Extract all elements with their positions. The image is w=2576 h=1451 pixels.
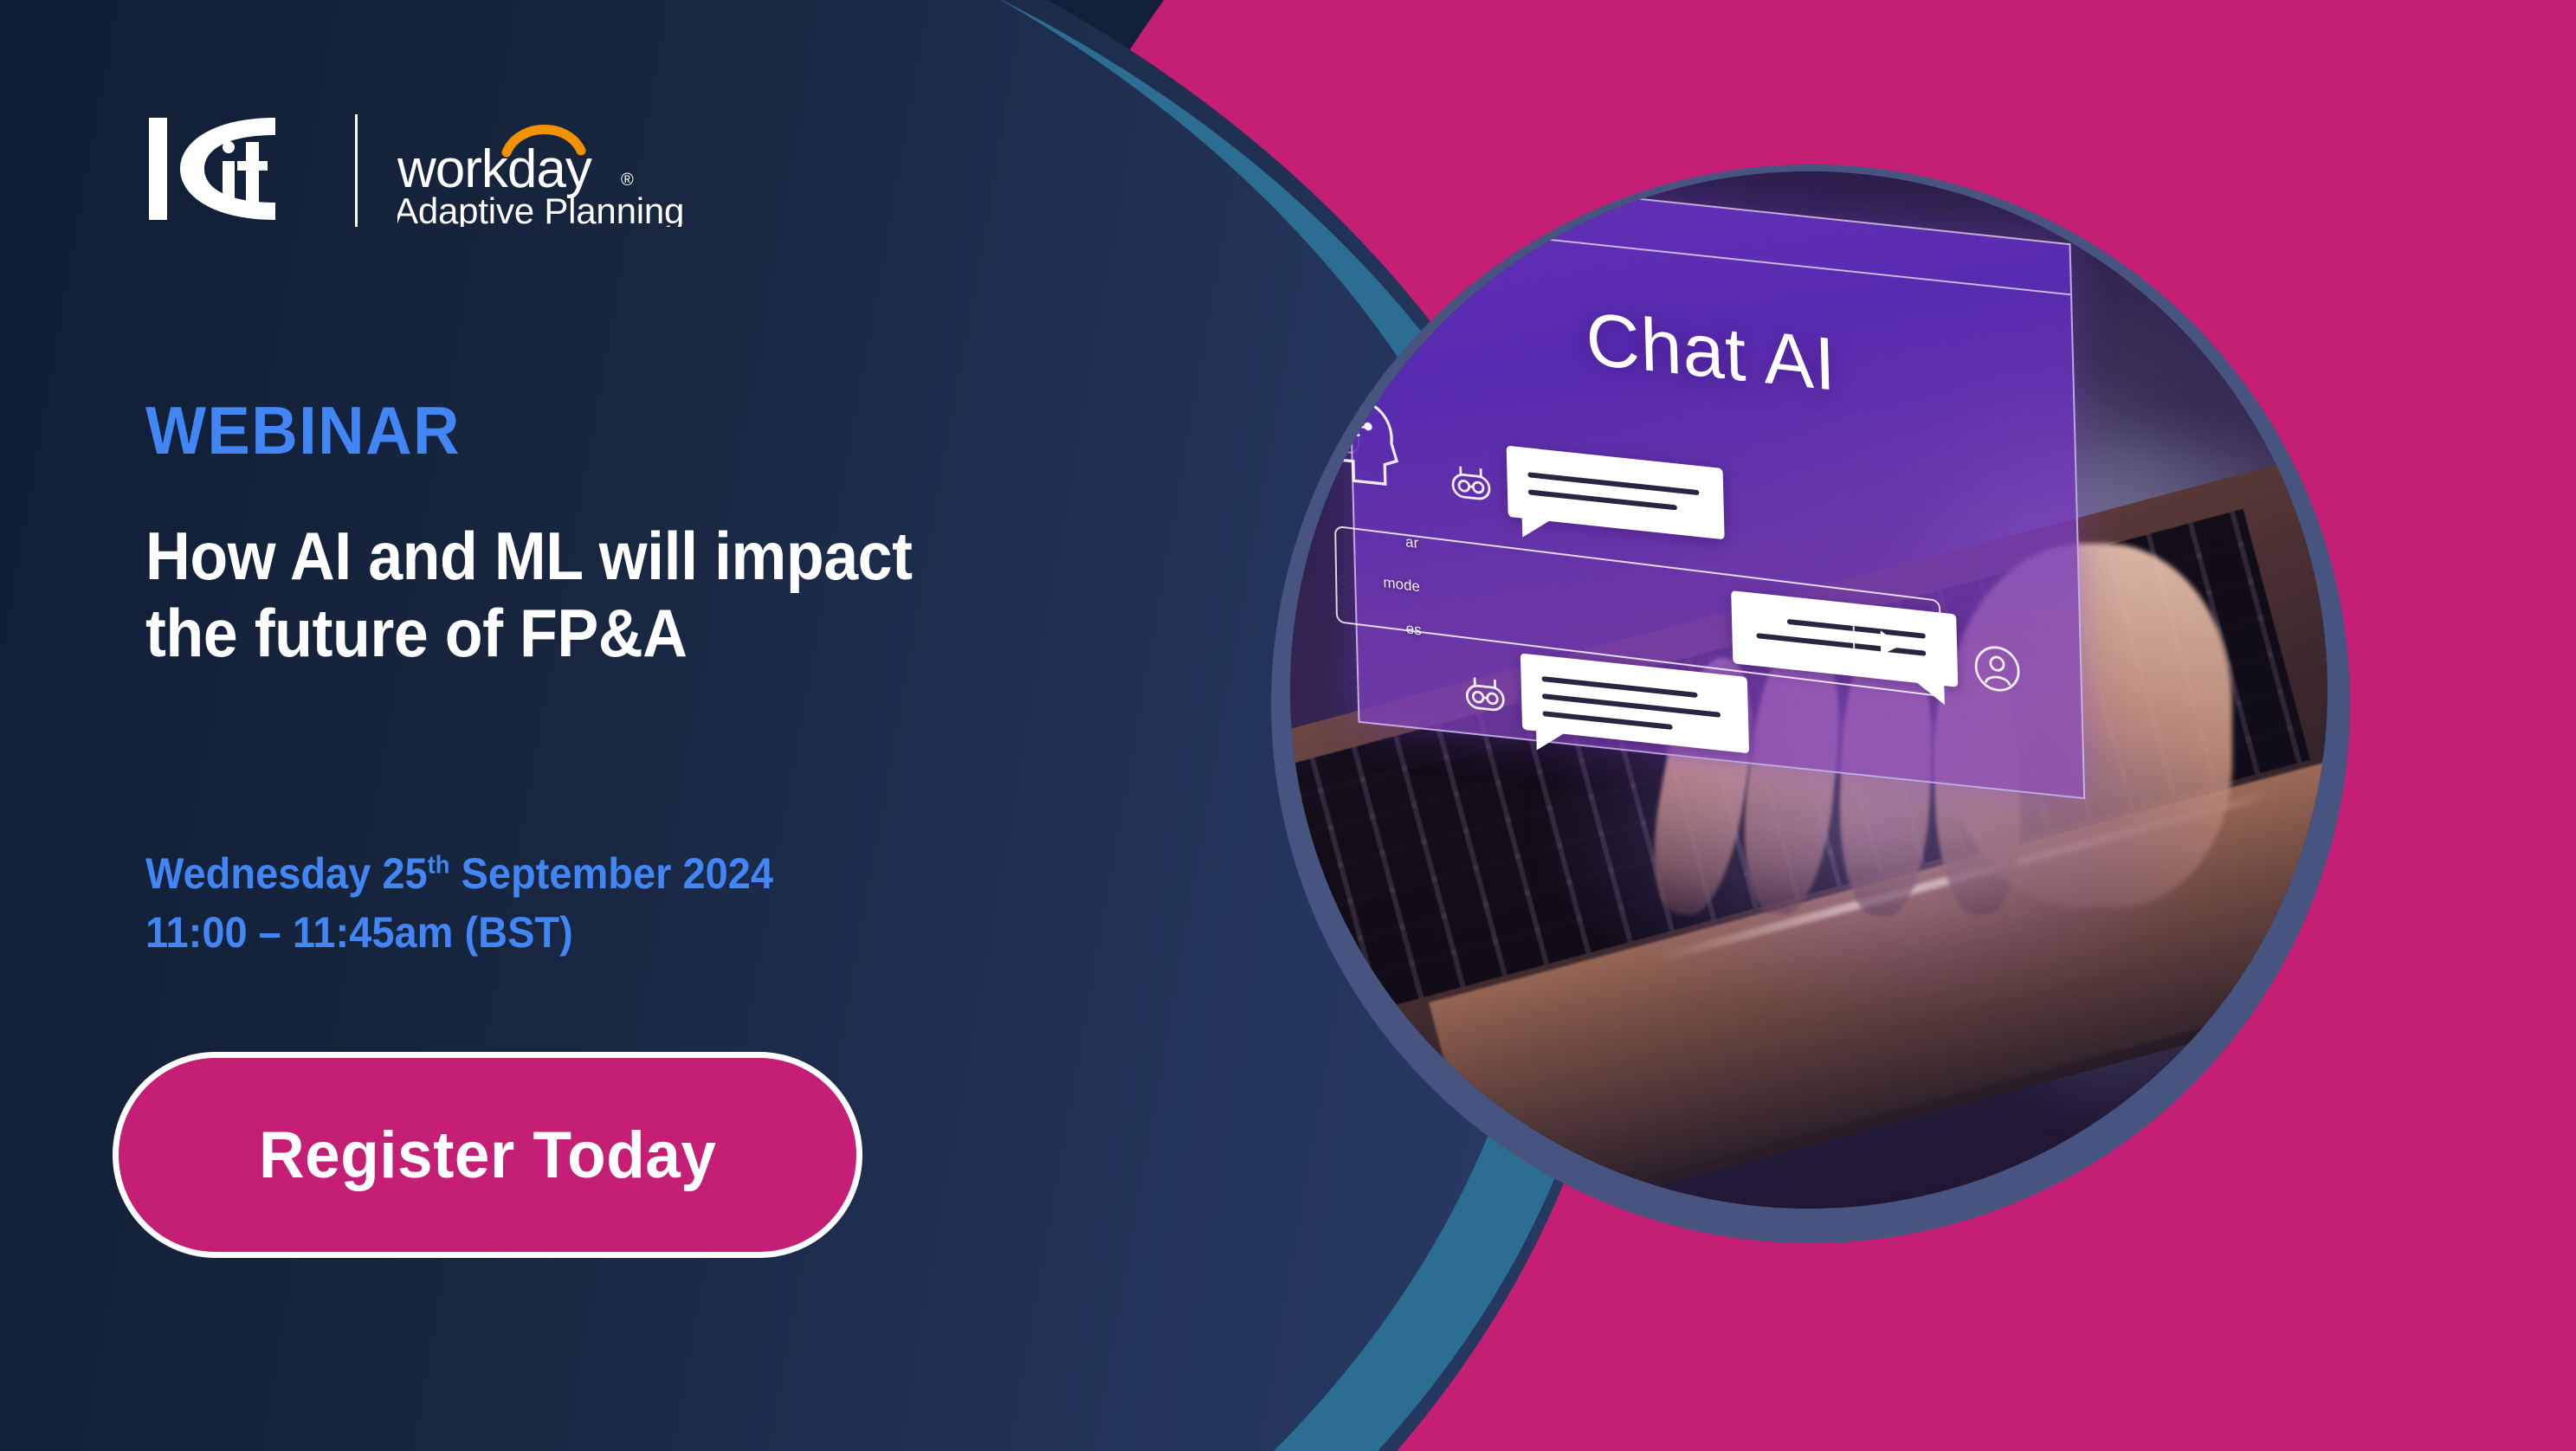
photo-inner: Chat AI xyxy=(1290,171,2327,1209)
webinar-time: 11:00 – 11:45am (BST) xyxy=(145,903,773,962)
webinar-banner: Chat AI xyxy=(0,0,2576,1451)
send-arrow-icon[interactable] xyxy=(1852,606,1927,680)
webinar-date: Wednesday 25th September 2024 xyxy=(145,844,773,903)
register-today-label: Register Today xyxy=(259,1118,716,1193)
chat-bubble xyxy=(1507,446,1725,540)
page-title: How AI and ML will impact the future of … xyxy=(145,518,942,672)
chat-ai-panel: Chat AI xyxy=(1344,171,2085,799)
robot-icon xyxy=(1446,455,1495,508)
register-today-button[interactable]: Register Today xyxy=(113,1052,862,1258)
logo-lockup: workday ® Adaptive Planning xyxy=(145,113,772,227)
icit-logo xyxy=(145,113,334,225)
date-suffix: September 2024 xyxy=(449,849,773,898)
webinar-datetime: Wednesday 25th September 2024 11:00 – 11… xyxy=(145,844,773,962)
logo-divider xyxy=(355,114,358,227)
ai-head-icon xyxy=(1328,384,1405,488)
chat-panel-title: Chat AI xyxy=(1348,271,2074,433)
date-prefix: Wednesday 25 xyxy=(145,849,428,898)
svg-text:Adaptive Planning: Adaptive Planning xyxy=(397,190,684,227)
robot-icon xyxy=(1460,666,1509,719)
user-avatar-icon xyxy=(1972,642,2022,695)
content-column: workday ® Adaptive Planning WEBINAR How … xyxy=(145,0,1167,1451)
workday-adaptive-planning-logo: workday ® Adaptive Planning xyxy=(397,113,772,227)
date-ordinal: th xyxy=(428,851,450,879)
eyebrow-label: WEBINAR xyxy=(145,391,461,470)
hero-photo: Chat AI xyxy=(1290,171,2327,1209)
svg-text:®: ® xyxy=(621,171,634,190)
